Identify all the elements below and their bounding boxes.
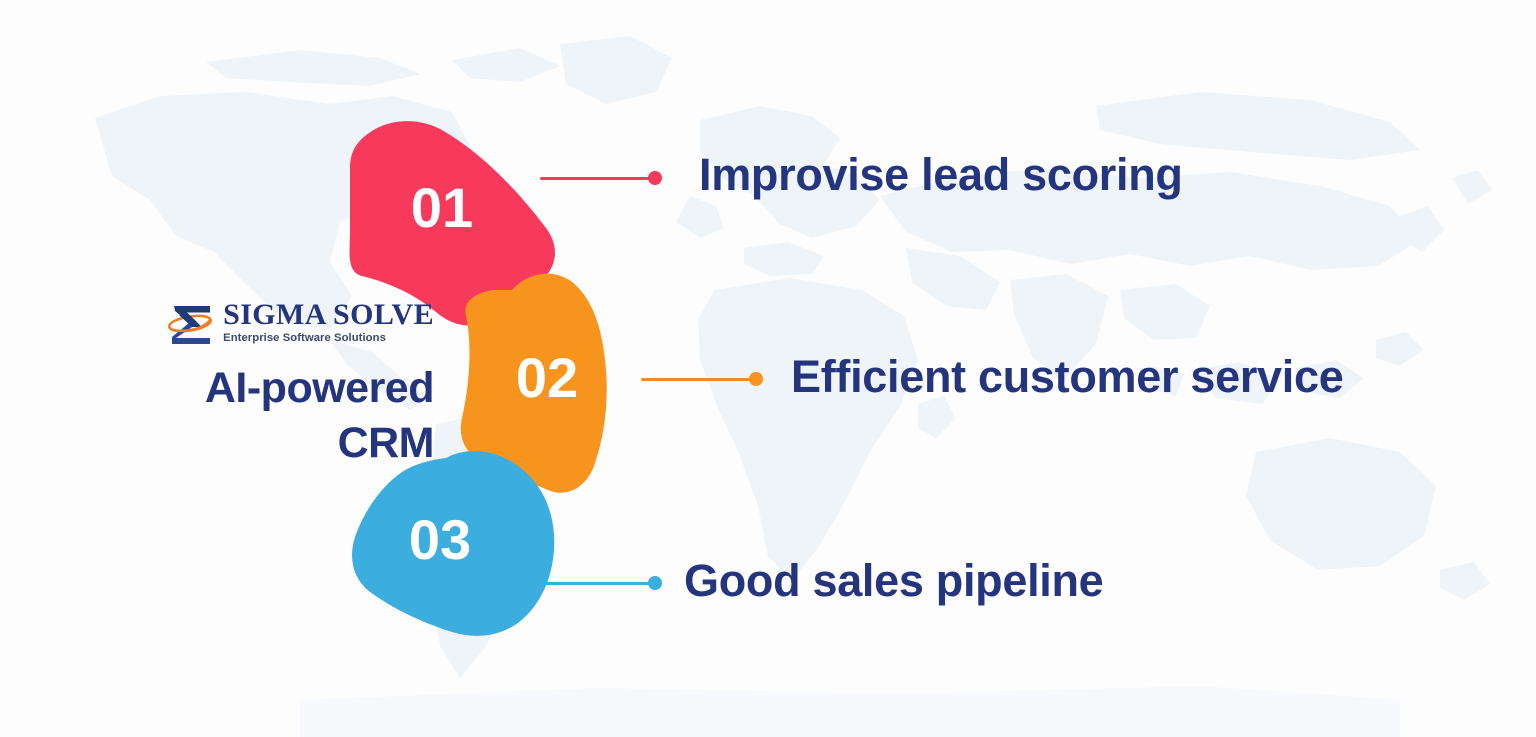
page-title: AI-powered CRM <box>152 361 434 471</box>
item-label-01: Improvise lead scoring <box>699 150 1183 200</box>
blob-number-01: 01 <box>392 180 492 236</box>
item-label-02: Efficient customer service <box>791 352 1343 402</box>
connector-dot-01 <box>648 171 662 185</box>
connector-dot-02 <box>749 372 763 386</box>
logo-company-name: SIGMA SOLVE <box>223 300 434 330</box>
connector-stroke-01 <box>540 177 650 180</box>
logo-lockup: SIGMA SOLVE Enterprise Software Solution… <box>152 300 434 345</box>
connector-stroke-02 <box>641 378 751 381</box>
blob-number-02: 02 <box>497 350 597 406</box>
logo-tagline: Enterprise Software Solutions <box>223 331 434 345</box>
connector-line-03 <box>540 573 662 593</box>
connector-line-02 <box>641 369 763 389</box>
brand-block: SIGMA SOLVE Enterprise Software Solution… <box>152 300 434 471</box>
connector-dot-03 <box>648 576 662 590</box>
logo-wordmark: SIGMA SOLVE Enterprise Software Solution… <box>223 300 434 345</box>
page-title-line-2: CRM <box>338 419 434 467</box>
connector-line-01 <box>540 168 662 188</box>
item-label-03: Good sales pipeline <box>684 556 1103 606</box>
blob-number-03: 03 <box>390 512 490 568</box>
sigma-solve-logo-icon <box>164 301 216 345</box>
infographic-canvas: 01 02 03 Improvise lead scoring Efficien… <box>0 0 1536 737</box>
connector-stroke-03 <box>540 582 650 585</box>
page-title-line-1: AI-powered <box>205 364 434 412</box>
